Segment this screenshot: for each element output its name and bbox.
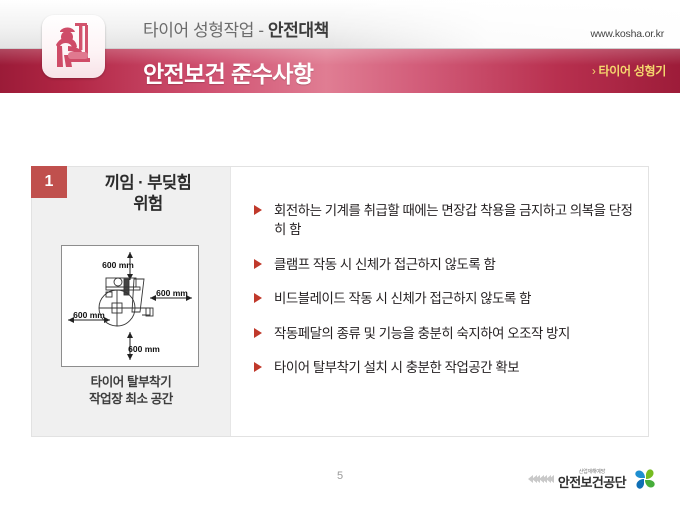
triangle-bullet-icon xyxy=(254,205,262,215)
hazard-title: 끼임 · 부딪힘 위험 xyxy=(72,173,224,215)
svg-text:600 mm: 600 mm xyxy=(156,288,188,298)
figure-caption-line-2: 작업장 최소 공간 xyxy=(44,391,218,408)
list-item-label: 타이어 탈부착기 설치 시 충분한 작업공간 확보 xyxy=(274,360,519,375)
figure-caption: 타이어 탈부착기 작업장 최소 공간 xyxy=(44,374,218,408)
header-eyebrow-prefix: 타이어 성형작업 - xyxy=(143,21,268,40)
kosha-footer-logo: 산업재해예방 안전보건공단 xyxy=(528,462,658,496)
breadcrumb: ›타이어 성형기 xyxy=(592,62,666,79)
list-item: 클램프 작동 시 신체가 접근하지 않도록 함 xyxy=(254,255,634,274)
page-title: 안전보건 준수사항 xyxy=(143,55,313,89)
header-top-gloss xyxy=(330,0,680,49)
item-number-badge: 1 xyxy=(31,166,67,198)
hazard-title-line-1: 끼임 · 부딪힘 xyxy=(72,173,224,194)
footer-org-name: 안전보건공단 xyxy=(558,476,626,489)
list-item: 작동페달의 종류 및 기능을 충분히 숙지하여 오조작 방지 xyxy=(254,324,634,343)
tire-changer-clearance-diagram: 600 mm 600 mm 600 mm 600 mm xyxy=(61,245,199,367)
figure-caption-line-1: 타이어 탈부착기 xyxy=(44,374,218,391)
content-panel: 1 끼임 · 부딪힘 위험 600 mm 600 mm 600 mm 60 xyxy=(31,166,649,437)
triangle-bullet-icon xyxy=(254,362,262,372)
header-eyebrow: 타이어 성형작업 - 안전대책 xyxy=(143,16,329,41)
worker-at-tire-machine-icon xyxy=(42,15,105,78)
list-item-label: 작동페달의 종류 및 기능을 충분히 숙지하여 오조작 방지 xyxy=(274,326,570,341)
header-eyebrow-strong: 안전대책 xyxy=(268,21,329,40)
list-item: 비드블레이드 작동 시 신체가 접근하지 않도록 함 xyxy=(254,289,634,308)
triangle-bullet-icon xyxy=(254,259,262,269)
pinwheel-logo-icon xyxy=(632,466,658,492)
breadcrumb-label: 타이어 성형기 xyxy=(599,64,666,78)
triangle-bullet-icon xyxy=(254,328,262,338)
slide-header: 타이어 성형작업 - 안전대책 안전보건 준수사항 www.kosha.or.k… xyxy=(0,0,680,93)
list-item: 회전하는 기계를 취급할 때에는 면장갑 착용을 금지하고 의복을 단정히 함 xyxy=(254,201,634,240)
triangle-bullet-icon xyxy=(254,293,262,303)
footer-org-subtitle: 산업재해예방 xyxy=(579,470,605,475)
list-item-label: 회전하는 기계를 취급할 때에는 면장갑 착용을 금지하고 의복을 단정히 함 xyxy=(274,203,633,237)
chevron-decoration-icon xyxy=(528,475,553,483)
footer-org-text: 산업재해예방 안전보건공단 xyxy=(558,470,626,489)
svg-text:600 mm: 600 mm xyxy=(128,344,160,354)
list-item-label: 비드블레이드 작동 시 신체가 접근하지 않도록 함 xyxy=(274,291,531,306)
hazard-title-line-2: 위험 xyxy=(72,194,224,215)
panel-column-divider xyxy=(230,167,231,436)
chevron-right-icon: › xyxy=(592,64,596,78)
list-item: 타이어 탈부착기 설치 시 충분한 작업공간 확보 xyxy=(254,358,634,377)
safety-rules-list: 회전하는 기계를 취급할 때에는 면장갑 착용을 금지하고 의복을 단정히 함 … xyxy=(254,201,634,378)
svg-text:600 mm: 600 mm xyxy=(102,260,134,270)
site-url: www.kosha.or.kr xyxy=(591,28,664,40)
list-item-label: 클램프 작동 시 신체가 접근하지 않도록 함 xyxy=(274,257,495,272)
